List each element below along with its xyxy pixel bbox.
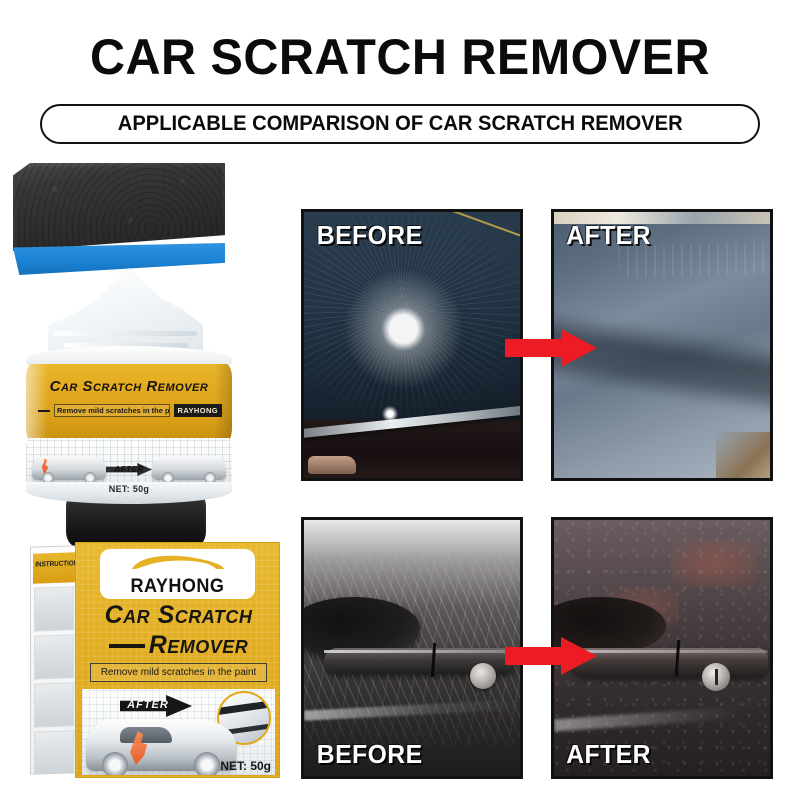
instruction-step	[34, 682, 74, 727]
box-title-line2-row: Remover	[76, 631, 280, 660]
panel-tag-before: BEFORE	[317, 220, 423, 251]
handle-highlight	[324, 650, 514, 653]
jar-label-subtitle-row: Remove mild scratches in the paint RAYHO…	[38, 404, 222, 417]
box-after-tag: AFTER	[122, 699, 174, 711]
sponge-foam-top	[13, 163, 225, 251]
box-logo: RAYHONG	[100, 549, 255, 599]
box-side-panel: INSTRUCTIONS FOR USE	[30, 545, 76, 775]
wheel-icon	[102, 752, 128, 775]
jar-label: Car Scratch Remover Remove mild scratche…	[26, 364, 232, 442]
jar-label-subtitle: Remove mild scratches in the paint	[54, 404, 170, 417]
box-front-panel: RAYHONG Car Scratch Remover Remove mild …	[75, 542, 280, 778]
handle-highlight	[572, 650, 768, 653]
product-jar: Car Scratch Remover Remove mild scratche…	[18, 268, 240, 518]
panel-tag-after: AFTER	[566, 739, 651, 770]
jar-brand-badge: RAYHONG	[174, 404, 222, 417]
instruction-step	[34, 730, 74, 775]
door-handle	[572, 648, 768, 676]
arrow-right-icon	[505, 328, 597, 368]
box-title-line2: Remover	[149, 631, 249, 660]
jar-label-title: Car Scratch Remover	[26, 378, 232, 395]
box-net-weight: NET: 50g	[220, 759, 271, 773]
panel-tag-after: AFTER	[566, 220, 651, 251]
car-before-illustration	[32, 456, 106, 480]
reflection-blob	[308, 456, 356, 474]
label-shadow	[214, 364, 232, 442]
box-title-line1: Car Scratch	[76, 601, 280, 630]
jar-after-tag: AFTER	[114, 465, 143, 474]
subtitle-pill: APPLICABLE COMPARISON OF CAR SCRATCH REM…	[40, 104, 760, 144]
car-window	[120, 727, 172, 743]
box-brand-text: RAYHONG	[131, 577, 225, 596]
page-title: CAR SCRATCH REMOVER	[12, 28, 788, 86]
jar-net-weight: NET: 50g	[18, 484, 240, 494]
cream-ridge	[54, 331, 197, 336]
instruction-step	[34, 634, 74, 679]
side-panel-title: INSTRUCTIONS FOR USE	[35, 559, 76, 569]
panel-tag-before: BEFORE	[317, 739, 423, 770]
label-highlight	[26, 364, 48, 442]
car-silhouette-icon	[130, 553, 226, 571]
bubble-trim	[217, 697, 271, 715]
comparison-panel-before-handle: BEFORE	[301, 517, 523, 779]
label-dash	[38, 410, 50, 412]
car-illustration	[86, 719, 236, 771]
product-box: INSTRUCTIONS FOR USE RAYHONG Car Scratch…	[30, 542, 280, 780]
applicator-sponge	[13, 163, 225, 275]
wheel-icon	[194, 752, 220, 775]
title-rule	[109, 644, 145, 648]
light-glint	[382, 406, 398, 422]
box-subtitle: Remove mild scratches in the paint	[90, 663, 267, 682]
ground-corner	[716, 432, 770, 478]
subtitle-text: APPLICABLE COMPARISON OF CAR SCRATCH REM…	[118, 112, 683, 136]
reflection-glow	[671, 540, 757, 586]
car-after-illustration	[152, 456, 226, 480]
arrow-right-icon	[505, 636, 597, 676]
side-panel-band: INSTRUCTIONS FOR USE	[33, 552, 75, 583]
instruction-step	[34, 586, 74, 631]
comparison-panel-before-hood: BEFORE	[301, 209, 523, 481]
